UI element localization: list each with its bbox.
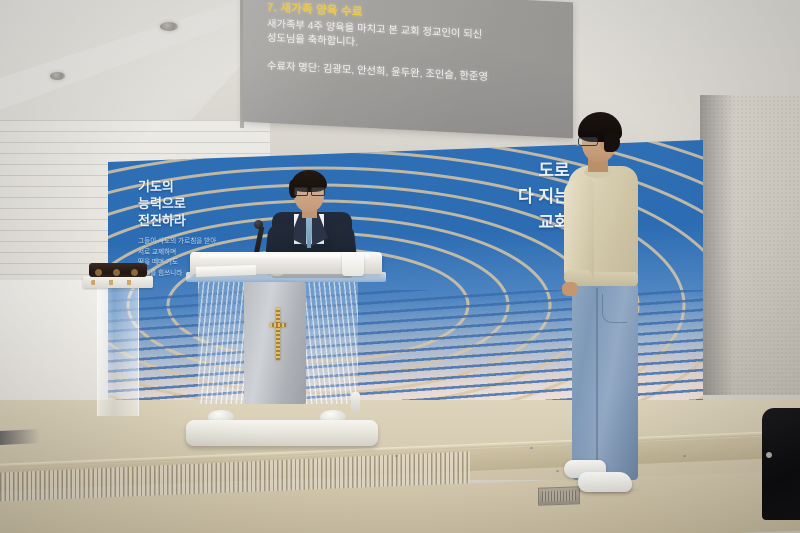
recessed-downlight-icon bbox=[50, 72, 65, 80]
eyeglasses-icon bbox=[578, 137, 598, 146]
bag-zipper-icon bbox=[766, 452, 772, 458]
floor-mark bbox=[395, 455, 398, 457]
banner-sub-line-1: 그들이 사도의 가르침을 받아 bbox=[138, 237, 216, 248]
acrylic-side-table bbox=[83, 258, 153, 418]
black-bag bbox=[762, 408, 800, 520]
side-table-trim bbox=[91, 280, 145, 285]
wall-shadow bbox=[700, 95, 734, 395]
banner-left-line-1: 기도의 bbox=[138, 178, 186, 195]
pulpit-papers bbox=[196, 265, 256, 277]
sweater-sleeve bbox=[564, 178, 594, 282]
person-hair-nape bbox=[604, 132, 620, 152]
side-table-leg bbox=[97, 288, 139, 416]
acrylic-pulpit bbox=[186, 252, 386, 452]
pulpit-base bbox=[186, 420, 378, 446]
microphone-head-icon bbox=[254, 220, 263, 229]
pulpit-top-surface bbox=[190, 252, 382, 274]
side-table-objects bbox=[89, 263, 147, 277]
cross-icon bbox=[270, 308, 286, 360]
banner-left-line-2: 능력으로 bbox=[138, 195, 186, 212]
object-dot bbox=[95, 269, 102, 276]
photo-scene: 7. 새가족 양육 수료 새가족부 4주 양육을 마치고 본 교회 정교인이 되… bbox=[0, 0, 800, 533]
object-dot bbox=[131, 269, 138, 276]
water-cup bbox=[342, 252, 364, 276]
cross-vertical bbox=[276, 308, 280, 360]
pulpit-microphone-base bbox=[351, 392, 360, 414]
floor-mark bbox=[683, 455, 686, 457]
eyeglasses-icon bbox=[294, 187, 324, 194]
person-hand bbox=[562, 282, 578, 296]
banner-left-headline: 기도의 능력으로 전진하라 bbox=[138, 178, 186, 229]
object-dot bbox=[113, 269, 120, 276]
pulpit-side-left bbox=[198, 282, 246, 404]
banner-left-line-3: 전진하라 bbox=[138, 212, 186, 229]
cross-horizontal bbox=[270, 323, 286, 327]
glasses-lens-right bbox=[311, 187, 325, 196]
floor-shadow-left bbox=[0, 429, 40, 445]
glasses-lens-left bbox=[294, 187, 308, 196]
white-sneaker-front bbox=[578, 472, 632, 492]
pulpit-side-right bbox=[306, 282, 358, 404]
standing-participant bbox=[556, 112, 666, 486]
projection-screen: 7. 새가족 양육 수료 새가족부 4주 양육을 마치고 본 교회 정교인이 되… bbox=[243, 0, 573, 138]
recessed-downlight-icon bbox=[160, 22, 178, 31]
jeans-pocket bbox=[602, 294, 627, 323]
floor-mark bbox=[530, 447, 533, 449]
jeans-seam bbox=[596, 288, 598, 474]
slide-content: 7. 새가족 양육 수료 새가족부 4주 양육을 마치고 본 교회 정교인이 되… bbox=[267, 0, 557, 87]
